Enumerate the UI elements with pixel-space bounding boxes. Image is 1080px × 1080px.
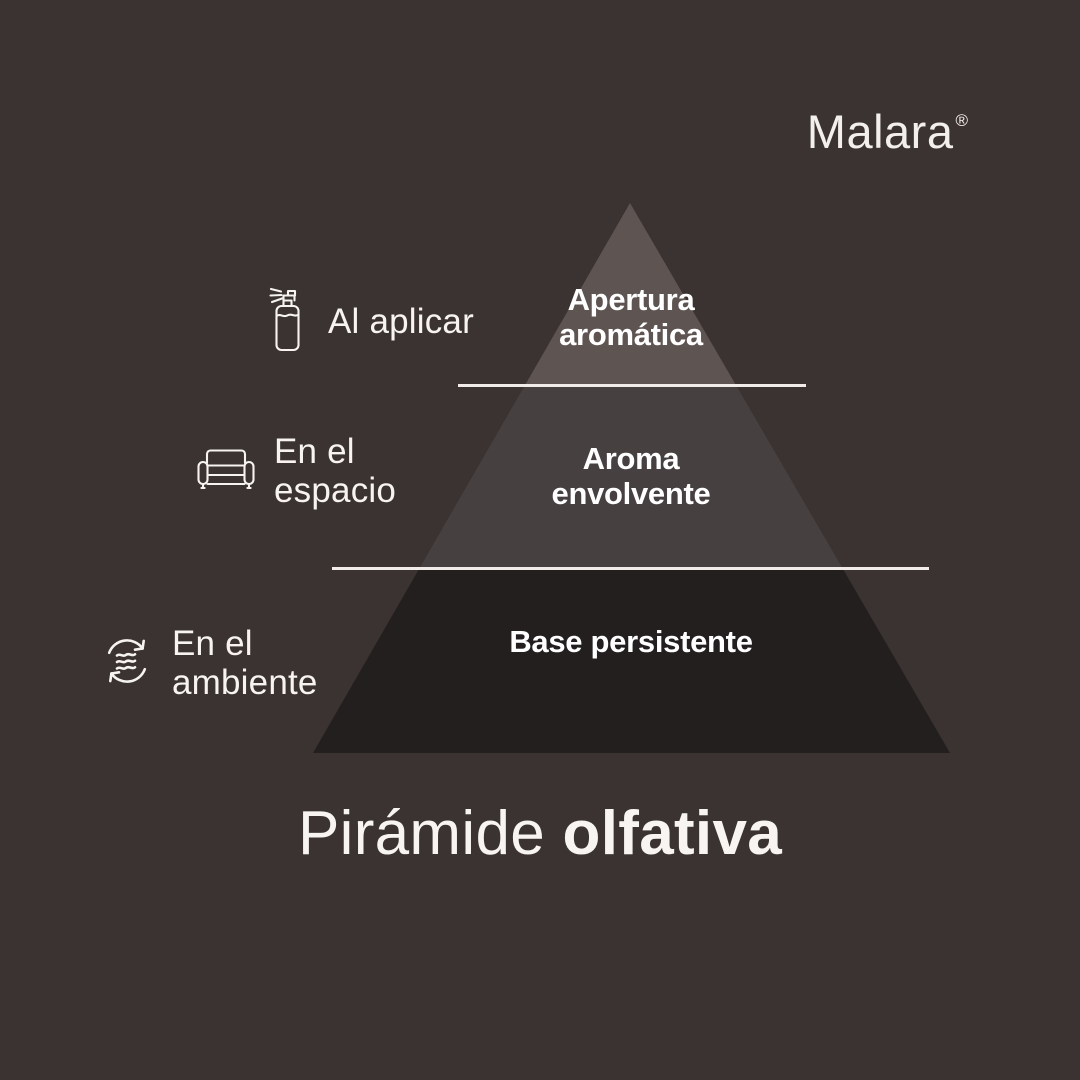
band-label-middle: Aroma envolvente [430,442,832,511]
registered-trademark-icon: ® [955,112,968,129]
page-title-light: Pirámide [298,799,563,868]
marker-apply-label: Al aplicar [328,302,474,341]
brand-name: Malara [807,108,954,155]
band-label-top-line2: aromática [430,318,832,353]
marker-ambience-label: En el ambiente [172,624,318,702]
marker-ambience: En el ambiente [100,624,318,702]
armchair-icon [196,442,256,501]
infographic-canvas: Malara ® Apertura aromática Aroma envolv… [0,0,1080,1080]
spray-bottle-icon [264,285,310,358]
olfactory-pyramid-graphic [0,0,1080,1080]
band-label-base: Base persistente [400,625,862,660]
band-label-middle-line1: Aroma [430,442,832,477]
air-circulation-icon [100,634,154,693]
marker-space-label: En el espacio [274,432,396,510]
marker-apply: Al aplicar [264,285,474,358]
band-label-top-line1: Apertura [430,283,832,318]
divider-rule-top [458,384,806,387]
band-label-middle-line2: envolvente [430,477,832,512]
brand-logo: Malara ® [807,108,968,155]
page-title-bold: olfativa [563,799,782,868]
page-title: Pirámide olfativa [0,800,1080,868]
band-label-top: Apertura aromática [430,283,832,352]
band-label-base-line1: Base persistente [400,625,862,660]
divider-rule-middle [332,567,929,570]
marker-space: En el espacio [196,432,396,510]
